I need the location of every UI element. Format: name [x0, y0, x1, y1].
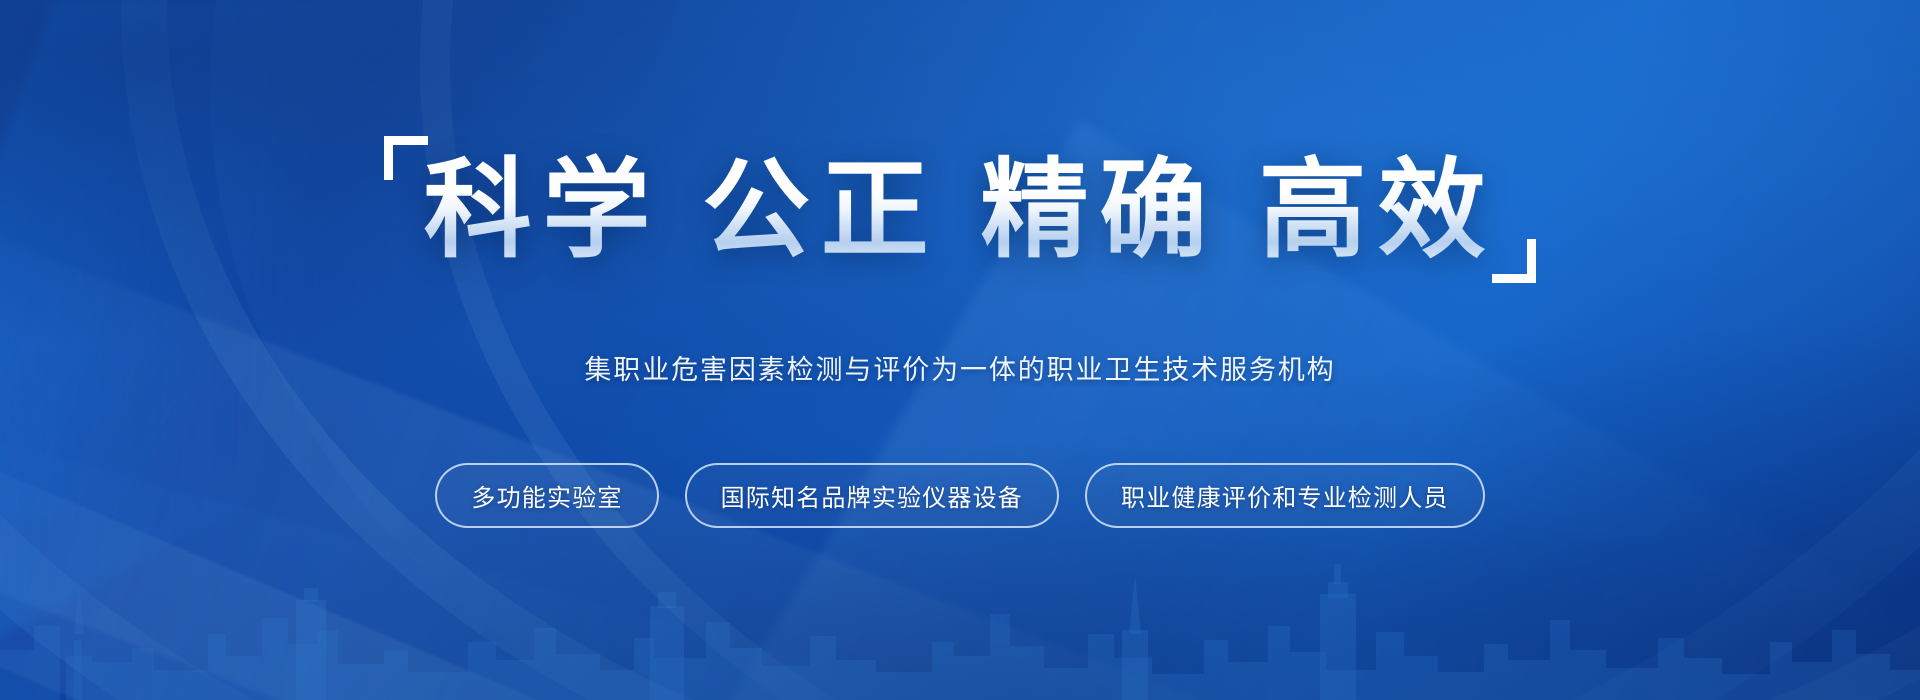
feature-pill-lab[interactable]: 多功能实验室 [435, 463, 658, 528]
headline-container: 科学 公正 精确 高效 [0, 150, 1920, 271]
feature-pill-equipment[interactable]: 国际知名品牌实验仪器设备 [685, 463, 1059, 528]
banner-subtitle: 集职业危害因素检测与评价为一体的职业卫生技术服务机构 [0, 348, 1920, 387]
headline-text: 科学 公正 精确 高效 [424, 150, 1497, 271]
banner-content: 科学 公正 精确 高效 集职业危害因素检测与评价为一体的职业卫生技术服务机构 多… [0, 0, 1920, 700]
feature-pill-list: 多功能实验室 国际知名品牌实验仪器设备 职业健康评价和专业检测人员 [0, 463, 1920, 528]
headline: 科学 公正 精确 高效 [390, 150, 1531, 271]
feature-pill-personnel[interactable]: 职业健康评价和专业检测人员 [1085, 463, 1485, 528]
hero-banner: 科学 公正 精确 高效 集职业危害因素检测与评价为一体的职业卫生技术服务机构 多… [0, 0, 1920, 700]
bracket-close-icon [1492, 239, 1536, 283]
bracket-open-icon [384, 136, 428, 180]
